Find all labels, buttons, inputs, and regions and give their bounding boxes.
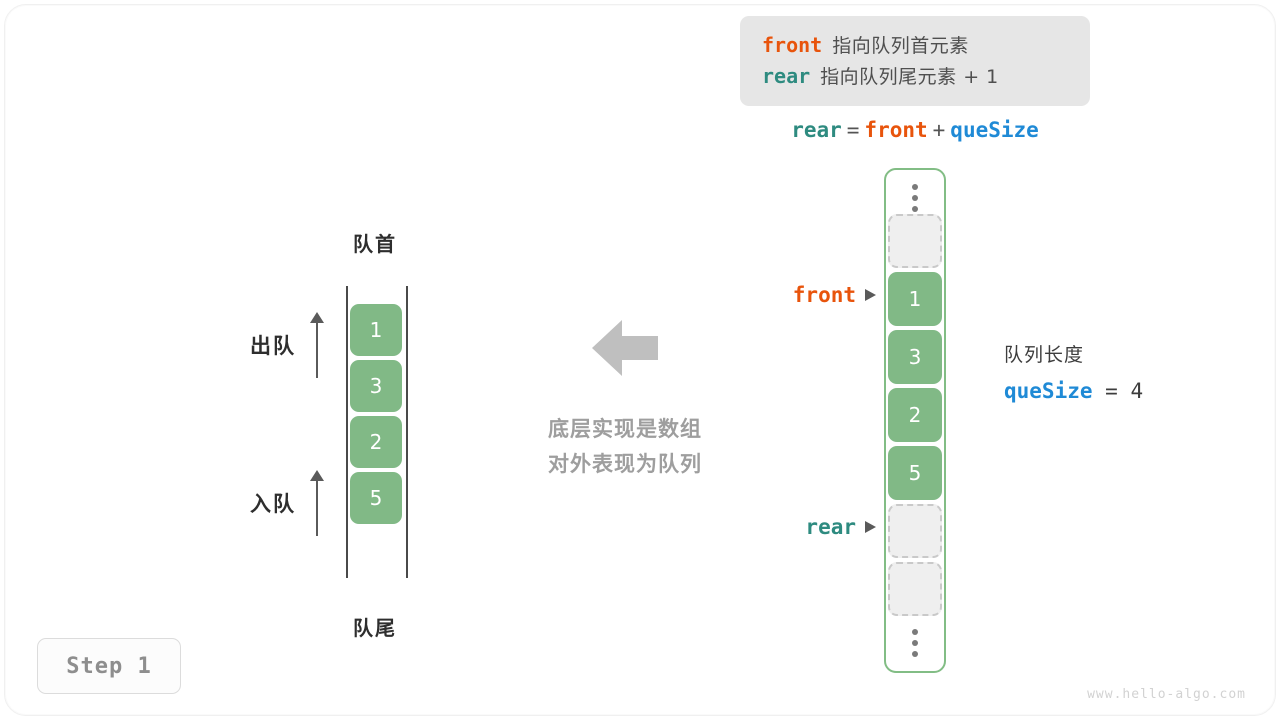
- array-container: 1325: [884, 168, 946, 673]
- array-cell-value: 2: [909, 403, 922, 427]
- rear-description: 指向队列尾元素 + 1: [820, 63, 999, 92]
- formula-rear-term: rear: [791, 118, 842, 142]
- pointer-arrow-icon: [865, 521, 876, 533]
- array-cell-value: 1: [909, 287, 922, 311]
- quesize-identifier: queSize: [1004, 379, 1093, 403]
- array-cell-list: 1325: [888, 214, 942, 616]
- rear-formula: rear=front+queSize: [740, 118, 1090, 142]
- caption-line-2: 对外表现为队列: [505, 447, 745, 482]
- array-cell: 1: [888, 272, 942, 326]
- center-caption: 底层实现是数组 对外表现为队列: [505, 412, 745, 481]
- formula-front-term: front: [864, 118, 927, 142]
- bottom-ellipsis-icon: [912, 629, 918, 657]
- arrow-left-icon: [592, 320, 658, 376]
- queue-rail-left: [346, 286, 348, 578]
- pointer-legend-box: front 指向队列首元素 rear 指向队列尾元素 + 1: [740, 16, 1090, 106]
- enqueue-group: 入队: [250, 470, 324, 536]
- dequeue-label: 出队: [250, 330, 296, 360]
- queue-rail-right: [406, 286, 408, 578]
- array-cell: [888, 562, 942, 616]
- dequeue-arrow-up-icon: [310, 312, 324, 378]
- top-ellipsis-icon: [912, 184, 918, 212]
- legend-line-front: front 指向队列首元素: [740, 30, 1090, 61]
- queue-cell-value: 2: [370, 430, 383, 454]
- dequeue-group: 出队: [250, 312, 324, 378]
- array-cell: 2: [888, 388, 942, 442]
- queue-cell: 2: [350, 416, 402, 468]
- rear-keyword: rear: [762, 61, 810, 91]
- array-cell: 5: [888, 446, 942, 500]
- array-cell: [888, 504, 942, 558]
- quesize-title: 队列长度: [1004, 340, 1143, 367]
- array-cell: [888, 214, 942, 268]
- formula-equals: =: [847, 118, 860, 142]
- array-pointer-rear: rear: [700, 515, 876, 539]
- queue-cell: 1: [350, 304, 402, 356]
- front-description: 指向队列首元素: [832, 32, 969, 61]
- step-badge: Step 1: [37, 638, 181, 694]
- queue-cell-list: 1325: [350, 304, 402, 524]
- array-pointer-label: rear: [805, 515, 856, 539]
- quesize-note: 队列长度 queSize = 4: [1004, 340, 1143, 403]
- array-cell: 3: [888, 330, 942, 384]
- quesize-value-line: queSize = 4: [1004, 379, 1143, 403]
- quesize-number: 4: [1130, 379, 1143, 403]
- array-cell-value: 3: [909, 345, 922, 369]
- queue-cell: 5: [350, 472, 402, 524]
- queue-tail-label: 队尾: [295, 612, 455, 641]
- formula-quesize-term: queSize: [950, 118, 1039, 142]
- queue-cell-value: 1: [370, 318, 383, 342]
- array-pointer-front: front: [700, 283, 876, 307]
- queue-head-label: 队首: [295, 228, 455, 257]
- legend-line-rear: rear 指向队列尾元素 + 1: [740, 61, 1090, 92]
- front-keyword: front: [762, 30, 822, 60]
- diagram-canvas: front 指向队列首元素 rear 指向队列尾元素 + 1 rear=fron…: [0, 0, 1280, 720]
- queue-cell: 3: [350, 360, 402, 412]
- caption-line-1: 底层实现是数组: [505, 412, 745, 447]
- enqueue-arrow-up-icon: [310, 470, 324, 536]
- watermark: www.hello-algo.com: [1087, 687, 1246, 702]
- queue-cell-value: 3: [370, 374, 383, 398]
- pointer-arrow-icon: [865, 289, 876, 301]
- array-pointer-label: front: [793, 283, 856, 307]
- queue-cell-value: 5: [370, 486, 383, 510]
- array-cell-value: 5: [909, 461, 922, 485]
- enqueue-label: 入队: [250, 488, 296, 518]
- quesize-equals: =: [1105, 379, 1118, 403]
- formula-plus: +: [933, 118, 946, 142]
